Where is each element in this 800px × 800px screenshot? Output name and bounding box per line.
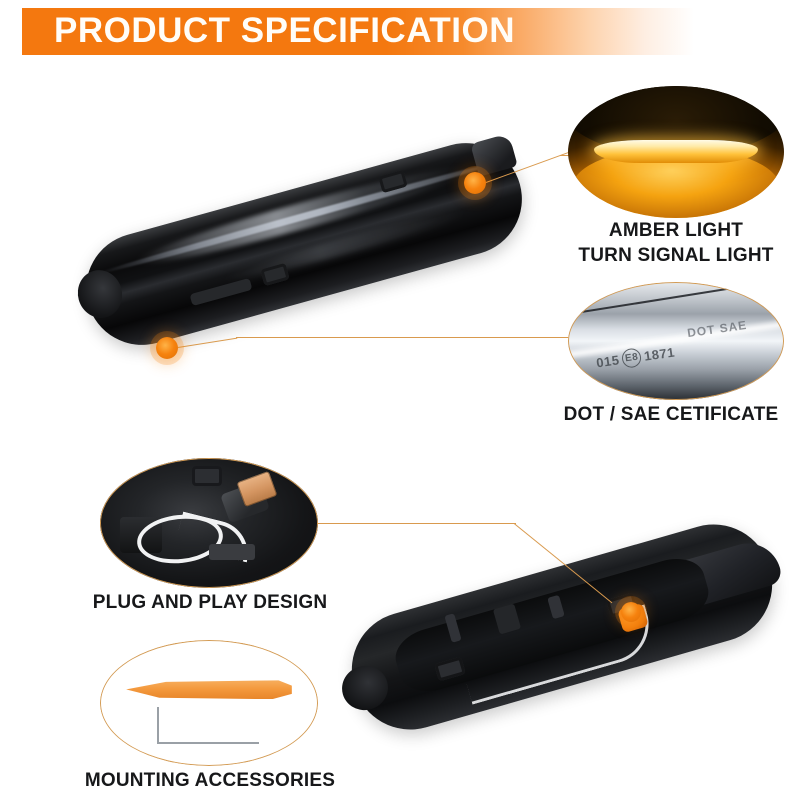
callout-image-amber-light <box>568 86 784 218</box>
callout-caption-plug-play: PLUG AND PLAY DESIGN <box>60 590 360 615</box>
caption-line-1: PLUG AND PLAY DESIGN <box>60 590 360 615</box>
caption-line-2: TURN SIGNAL LIGHT <box>548 243 800 268</box>
marking-approval-number: 1871 <box>643 345 676 364</box>
hotspot-plug-connector[interactable] <box>621 602 641 622</box>
amber-led-strip <box>594 140 758 162</box>
marking-code: 015 <box>595 352 620 370</box>
callout-ring-mounting-accessories <box>100 640 318 766</box>
pry-tool-icon <box>126 680 292 699</box>
callout-image-mounting-accessories <box>100 640 318 766</box>
callout-caption-mounting-accessories: MOUNTING ACCESSORIES <box>52 768 368 793</box>
callout-caption-dot-sae: DOT / SAE CETIFICATE <box>538 402 800 427</box>
page-title: PRODUCT SPECIFICATION <box>54 9 515 53</box>
lens-edge-line <box>578 282 775 314</box>
caption-line-1: AMBER LIGHT <box>548 218 800 243</box>
leader-line-plug-play-segment <box>316 523 516 524</box>
lens-housing-body <box>73 130 535 358</box>
callout-image-dot-sae: 015 E8 1871 DOT SAE <box>568 282 784 400</box>
hotspot-dot-sae[interactable] <box>156 337 178 359</box>
product-image-back <box>340 510 790 760</box>
hex-key-icon <box>157 707 259 744</box>
e-mark-icon: E8 <box>621 347 642 368</box>
hotspot-amber-light[interactable] <box>464 172 486 194</box>
callout-image-plug-play <box>100 458 318 588</box>
product-specification-page: PRODUCT SPECIFICATION <box>0 0 800 800</box>
product-image-front <box>70 118 540 393</box>
housing-tab <box>192 466 222 486</box>
wire-clip <box>209 544 255 560</box>
callout-caption-amber-light: AMBER LIGHT TURN SIGNAL LIGHT <box>548 218 800 268</box>
caption-line-1: DOT / SAE CETIFICATE <box>538 402 800 427</box>
leader-line-dot-sae-segment <box>236 337 572 338</box>
caption-line-1: MOUNTING ACCESSORIES <box>52 768 368 793</box>
